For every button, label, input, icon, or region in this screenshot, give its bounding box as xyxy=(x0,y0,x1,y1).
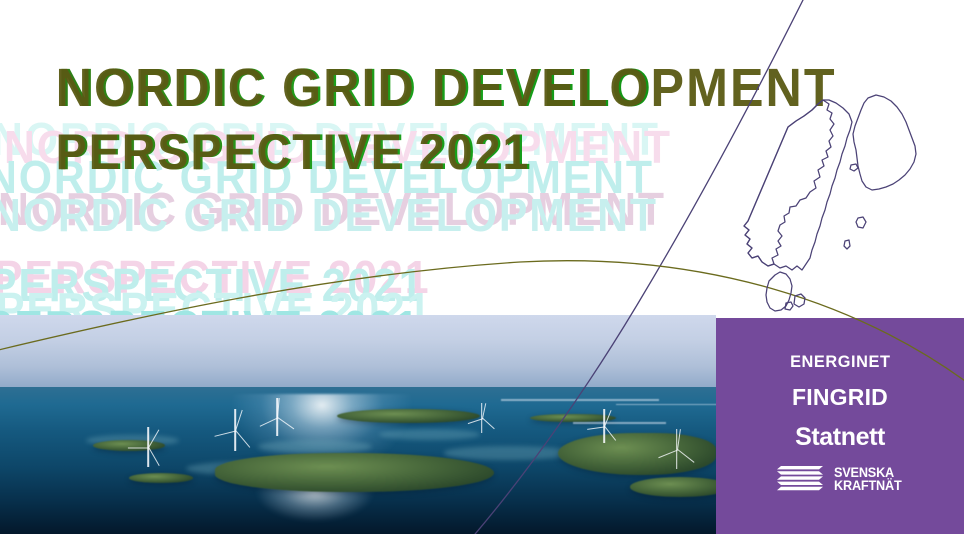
nordic-map-outline xyxy=(744,95,916,311)
map-norway xyxy=(744,100,834,266)
map-denmark-fyn xyxy=(785,302,793,310)
ghost-text: PERSPECTIVE 2021 xyxy=(0,258,424,312)
island xyxy=(558,433,716,475)
wave-bars-icon xyxy=(775,464,827,494)
island xyxy=(630,477,716,497)
wind-turbine xyxy=(473,403,491,433)
wind-turbine xyxy=(666,429,688,469)
ghost-text: NORDIC GRID DEVELOPMENT xyxy=(0,182,666,236)
turbine-blade xyxy=(128,447,149,448)
map-denmark-zealand xyxy=(794,294,805,307)
logo-fingrid: FINGRID xyxy=(792,384,888,411)
turbine-blade xyxy=(604,410,612,427)
turbine-blade xyxy=(235,410,243,431)
turbine-blade xyxy=(235,431,250,449)
wind-turbine xyxy=(136,427,160,467)
title-line-1: NORDIC GRID DEVELOPMENT xyxy=(58,56,653,120)
logo-svenska-kraftnat-text: SVENSKA KRAFTNÄT xyxy=(834,466,902,493)
partner-logo-list: ENERGINET FINGRID Statnett SVENSKA KRAFT… xyxy=(716,318,964,534)
reef xyxy=(444,446,573,459)
map-denmark-jutland xyxy=(766,272,792,311)
map-aland xyxy=(850,164,858,171)
turbine-blade xyxy=(148,447,160,466)
map-gotland xyxy=(856,217,866,228)
island xyxy=(129,473,193,483)
cover-photo xyxy=(0,315,716,534)
ghost-text: NORDIC GRID DEVELOPMENT xyxy=(0,188,658,242)
wind-turbine xyxy=(222,409,248,451)
turbine-blade xyxy=(148,429,160,448)
causeway xyxy=(616,404,716,405)
svk-line-2: KRAFTNÄT xyxy=(834,479,902,493)
cover-page: NORDIC GRID DEVELOPMENT NORDIC GRID DEVE… xyxy=(0,0,964,534)
logo-energinet: ENERGINET xyxy=(790,352,890,372)
ghost-text: PERSPECTIVE 2021 xyxy=(0,250,430,304)
causeway xyxy=(501,399,659,400)
map-oland xyxy=(844,240,850,249)
partner-logo-panel: ENERGINET FINGRID Statnett SVENSKA KRAFT… xyxy=(716,318,964,534)
reef xyxy=(379,429,479,440)
turbine-blade xyxy=(277,398,280,418)
svk-line-1: SVENSKA xyxy=(834,466,902,480)
logo-svenska-kraftnat: SVENSKA KRAFTNÄT xyxy=(775,464,906,494)
wind-turbine xyxy=(594,409,614,443)
island xyxy=(215,453,494,492)
reef xyxy=(258,440,373,453)
causeway xyxy=(573,422,666,423)
wind-turbine xyxy=(265,398,289,436)
title-line-2: PERSPECTIVE 2021 xyxy=(58,120,653,184)
logo-statnett: Statnett xyxy=(795,423,885,452)
map-sweden xyxy=(744,100,852,270)
photo-sky xyxy=(0,315,716,389)
map-finland xyxy=(853,95,916,190)
cover-title: NORDIC GRID DEVELOPMENT PERSPECTIVE 2021 xyxy=(58,56,698,184)
